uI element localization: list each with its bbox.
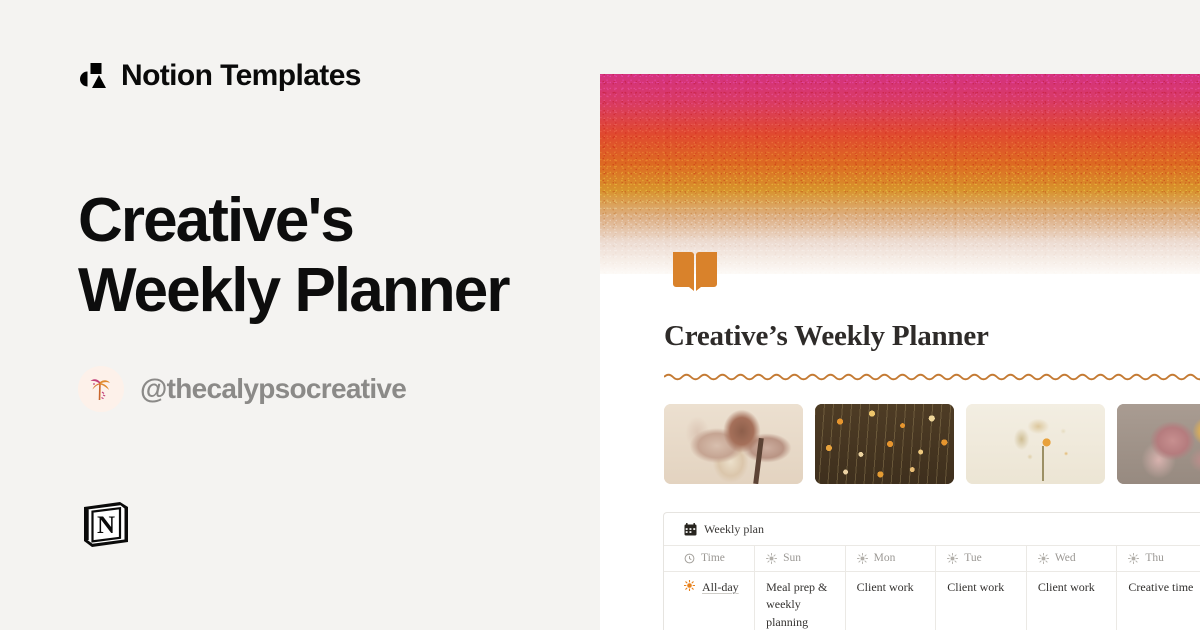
column-header-time[interactable]: Time: [664, 546, 755, 572]
table-caption: Weekly plan: [664, 513, 1200, 545]
table-header-row: Time: [664, 546, 1200, 572]
author-handle[interactable]: @thecalypsocreative: [140, 373, 406, 405]
page-title-line-2: Weekly Planner: [78, 256, 509, 325]
gallery-image-pink-parrot-tulip[interactable]: [1117, 404, 1200, 484]
sun-icon: [1038, 553, 1049, 564]
sun-icon: [766, 553, 777, 564]
template-preview-panel[interactable]: Creative’s Weekly Planner: [600, 74, 1200, 630]
notion-cube-logo-icon: N: [78, 496, 133, 551]
table-row[interactable]: All-day Meal prep & weekly planning Clie…: [664, 572, 1200, 630]
gallery-image-pressed-wildflowers-dark[interactable]: [815, 404, 954, 484]
clock-icon: [684, 553, 695, 564]
row-time-cell[interactable]: All-day: [664, 572, 755, 630]
cover-gradient: [600, 74, 1200, 274]
calendar-icon: [684, 523, 697, 536]
brand-name: Notion Templates: [121, 61, 361, 91]
hero-panel: Notion Templates Creative's Weekly Plann…: [0, 0, 600, 630]
column-header-wed[interactable]: Wed: [1026, 546, 1117, 572]
table-cell[interactable]: Client work: [1026, 572, 1117, 630]
page-title-line-1: Creative's: [78, 186, 353, 255]
table-cell[interactable]: Meal prep & weekly planning: [755, 572, 846, 630]
weekly-plan-table-block[interactable]: Weekly plan: [663, 512, 1200, 630]
column-header-wed-label: Wed: [1055, 552, 1076, 564]
table-cell[interactable]: Client work: [936, 572, 1027, 630]
brand-row: Notion Templates: [78, 56, 600, 96]
row-time-label: All-day: [702, 579, 739, 596]
column-header-mon[interactable]: Mon: [845, 546, 936, 572]
column-header-thu-label: Thu: [1145, 552, 1164, 564]
sun-icon: [947, 553, 958, 564]
table-caption-label: Weekly plan: [704, 522, 764, 537]
column-header-thu[interactable]: Thu: [1117, 546, 1200, 572]
sun-icon: [857, 553, 868, 564]
image-gallery[interactable]: [664, 404, 1200, 484]
column-header-sun[interactable]: Sun: [755, 546, 846, 572]
open-book-icon: [670, 250, 720, 296]
svg-text:N: N: [97, 512, 115, 539]
weekly-plan-table[interactable]: Time: [664, 545, 1200, 630]
column-header-tue-label: Tue: [964, 552, 981, 564]
column-header-time-label: Time: [701, 552, 725, 564]
gallery-image-dried-pink-chrysanthemum[interactable]: [664, 404, 803, 484]
document-body: Creative’s Weekly Planner: [600, 274, 1200, 630]
sun-orange-icon: [684, 579, 695, 590]
table-cell[interactable]: Creative time: [1117, 572, 1200, 630]
notion-templates-shapes-logo-icon: [78, 61, 108, 91]
palm-tree-avatar: [78, 366, 124, 412]
column-header-mon-label: Mon: [874, 552, 896, 564]
column-header-tue[interactable]: Tue: [936, 546, 1027, 572]
author-row[interactable]: @thecalypsocreative: [78, 366, 600, 412]
column-header-sun-label: Sun: [783, 552, 801, 564]
wavy-divider: [664, 370, 1200, 382]
table-cell[interactable]: Client work: [845, 572, 936, 630]
page-title: Creative's Weekly Planner: [78, 186, 598, 326]
gallery-image-single-dried-poppy[interactable]: [966, 404, 1105, 484]
sun-icon: [1128, 553, 1139, 564]
document-title: Creative’s Weekly Planner: [664, 322, 1200, 351]
